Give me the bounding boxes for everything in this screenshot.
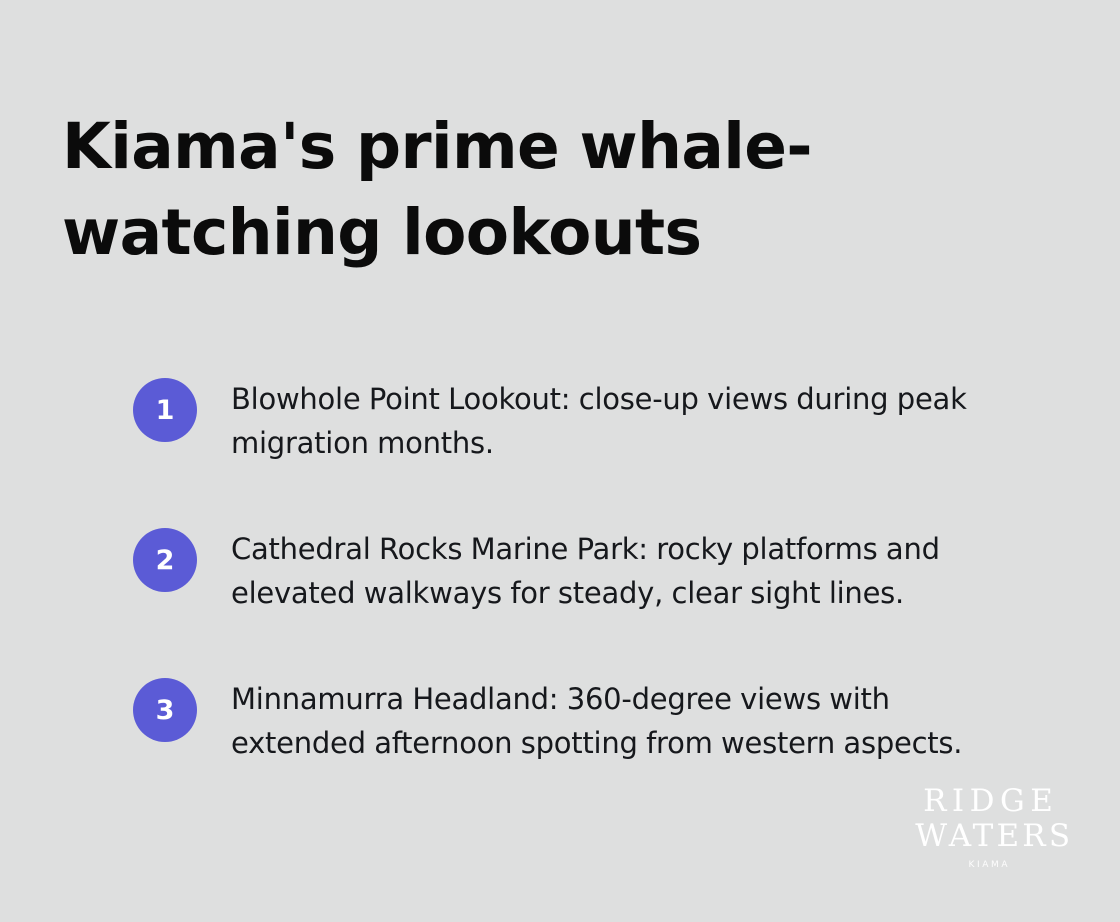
logo-tagline: KIAMA	[912, 861, 1064, 870]
list-item-text: Minnamurra Headland: 360-degree views wi…	[231, 677, 1021, 765]
lookout-list: 1 Blowhole Point Lookout: close-up views…	[133, 378, 1033, 765]
slide-canvas: Kiama's prime whale-watching lookouts 1 …	[0, 0, 1120, 922]
list-number-badge: 3	[133, 678, 197, 742]
logo-wordmark-line2: WATERS	[912, 821, 1064, 852]
list-item: 3 Minnamurra Headland: 360-degree views …	[133, 678, 1033, 765]
list-item: 2 Cathedral Rocks Marine Park: rocky pla…	[133, 528, 1033, 615]
list-number-badge: 1	[133, 378, 197, 442]
page-title: Kiama's prime whale-watching lookouts	[62, 104, 1062, 276]
list-item: 1 Blowhole Point Lookout: close-up views…	[133, 378, 1033, 465]
logo-wordmark-line1: RIDGE	[912, 786, 1064, 817]
list-item-text: Cathedral Rocks Marine Park: rocky platf…	[231, 527, 1021, 615]
list-number-badge: 2	[133, 528, 197, 592]
list-item-text: Blowhole Point Lookout: close-up views d…	[231, 377, 1021, 465]
title-block: Kiama's prime whale-watching lookouts	[62, 104, 1062, 276]
brand-logo: RIDGE WATERS KIAMA	[912, 786, 1064, 870]
